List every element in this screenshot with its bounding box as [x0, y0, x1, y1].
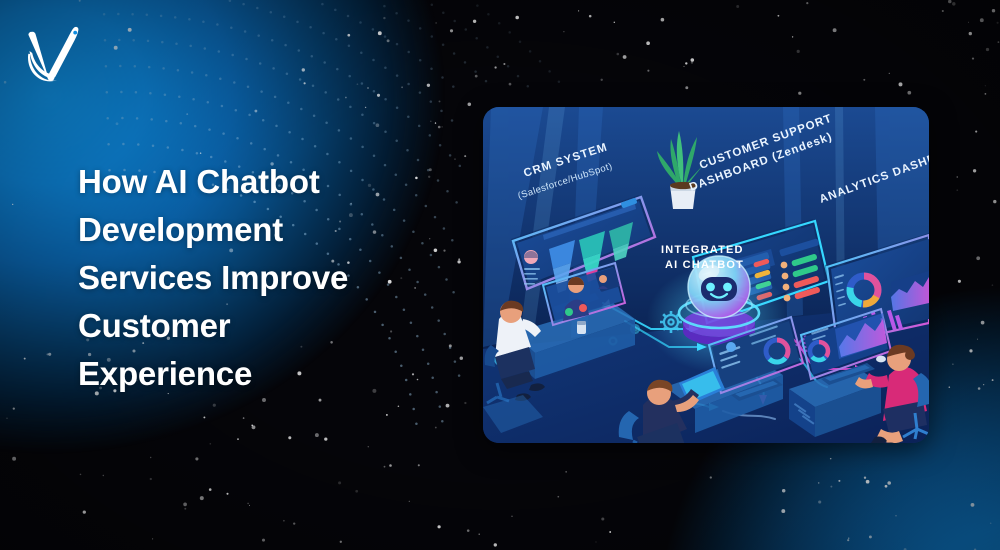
- headline-line-2: Development: [78, 206, 458, 254]
- headline-line-1: How AI Chatbot: [78, 158, 458, 206]
- chatbot-label-line2: AI CHATBOT: [665, 259, 744, 271]
- illustration-svg: CRM SYSTEM (Salesforce/HubSpot): [483, 107, 929, 443]
- headline-line-3: Services Improve: [78, 254, 458, 302]
- headline-line-4: Customer: [78, 302, 458, 350]
- chatbot-label-line1: INTEGRATED: [661, 244, 744, 256]
- headline-line-5: Experience: [78, 350, 458, 398]
- brand-logo[interactable]: [22, 24, 94, 90]
- hero-illustration: CRM SYSTEM (Salesforce/HubSpot): [483, 107, 929, 443]
- banner-canvas: How AI Chatbot Development Services Impr…: [0, 0, 1000, 550]
- page-title: How AI Chatbot Development Services Impr…: [78, 158, 458, 398]
